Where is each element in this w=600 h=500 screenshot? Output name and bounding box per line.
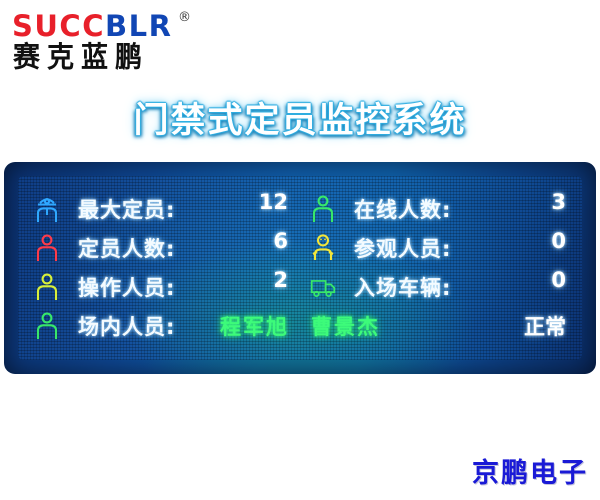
logo-latin-blr: BLR (105, 9, 172, 43)
registered-trademark-icon: ® (178, 10, 191, 25)
onsite-personnel-names: 程军旭 曹景杰 (220, 307, 402, 344)
person-icon (34, 311, 60, 341)
led-row: 场内人员: 程军旭 曹景杰 正常 (18, 307, 582, 344)
metric-label: 参观人员: (354, 233, 451, 263)
led-row: 操作人员: 2 入场车辆: 0 (18, 268, 582, 305)
metric-value: 12 (232, 190, 288, 214)
personnel-name: 程军旭 (220, 311, 289, 341)
metric-value: 2 (232, 268, 288, 292)
metric-label: 场内人员: (78, 311, 175, 341)
person-icon (34, 233, 60, 263)
status-badge: 正常 (488, 307, 566, 344)
person-icon (34, 272, 60, 302)
led-screen: 最大定员: 12 在线人数: 3 (18, 176, 582, 360)
metric-label: 在线人数: (354, 194, 451, 224)
page-title: 门禁式定员监控系统 (0, 92, 600, 143)
led-display-panel: 最大定员: 12 在线人数: 3 (4, 162, 596, 374)
logo-latin-succ: SUCC (12, 9, 105, 43)
logo-chinese-text: 赛克蓝鹏 (13, 42, 149, 74)
metric-visitor-count: 参观人员: (310, 229, 451, 266)
truck-icon (310, 272, 336, 302)
metric-value: 3 (510, 190, 566, 214)
metric-label: 定员人数: (78, 233, 175, 263)
metric-operators: 操作人员: (34, 268, 175, 305)
led-row: 最大定员: 12 在线人数: 3 (18, 190, 582, 227)
metric-value: 6 (232, 229, 288, 253)
metric-label: 最大定员: (78, 194, 175, 224)
led-rows: 最大定员: 12 在线人数: 3 (18, 176, 582, 360)
metric-onsite-personnel: 场内人员: (34, 307, 175, 344)
metric-staff-quota: 定员人数: (34, 229, 175, 266)
metric-label: 入场车辆: (354, 272, 451, 302)
metric-label: 操作人员: (78, 272, 175, 302)
metric-max-capacity: 最大定员: (34, 190, 175, 227)
logo-latin-text: SUCCBLR (12, 11, 172, 41)
metric-online-count: 在线人数: (310, 190, 451, 227)
metric-value: 0 (510, 229, 566, 253)
person-icon (310, 194, 336, 224)
person-helmet-icon (34, 194, 60, 224)
metric-vehicles-entered: 入场车辆: (310, 268, 451, 305)
person-visitor-icon (310, 233, 336, 263)
footer-brand: 京鹏电子 (472, 451, 588, 490)
company-logo: SUCCBLR ® 赛克蓝鹏 (8, 6, 248, 76)
metric-value: 0 (510, 268, 566, 292)
personnel-name: 曹景杰 (311, 311, 380, 341)
led-row: 定员人数: 6 参观人员: (18, 229, 582, 266)
